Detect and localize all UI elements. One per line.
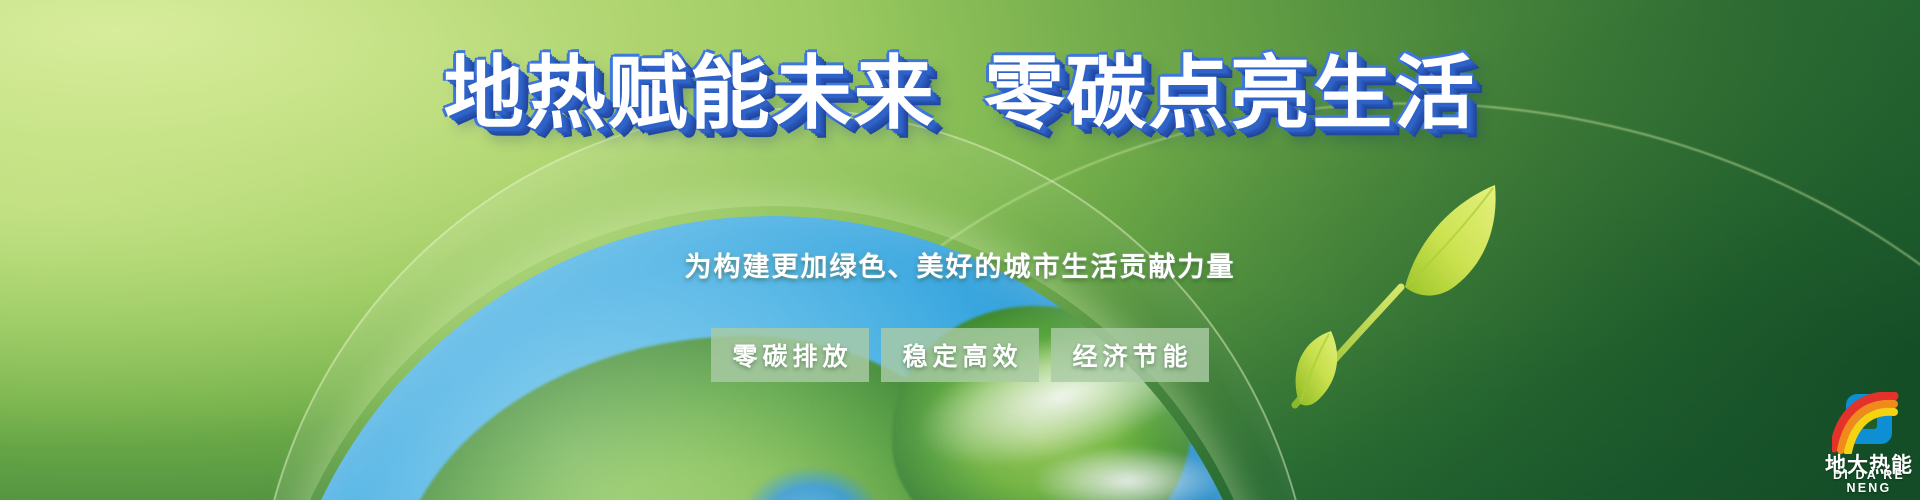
logo-mark-icon xyxy=(1832,392,1906,454)
logo-name-en: DI DA RE NENG xyxy=(1810,469,1920,494)
promo-banner: 地热赋能未来 零碳点亮生活 为构建更加绿色、美好的城市生活贡献力量 零碳排放 稳… xyxy=(0,0,1920,500)
company-logo[interactable]: 地大热能 DI DA RE NENG xyxy=(1810,392,1920,496)
badge-economical-energy-saving[interactable]: 经济节能 xyxy=(1051,328,1209,382)
sprout-icon xyxy=(1255,155,1555,445)
badge-stable-efficient[interactable]: 稳定高效 xyxy=(881,328,1039,382)
page-title: 地热赋能未来 零碳点亮生活 xyxy=(0,52,1920,137)
page-subtitle: 为构建更加绿色、美好的城市生活贡献力量 xyxy=(0,245,1920,284)
badge-zero-carbon[interactable]: 零碳排放 xyxy=(711,328,869,382)
feature-badge-list: 零碳排放 稳定高效 经济节能 xyxy=(0,328,1920,382)
